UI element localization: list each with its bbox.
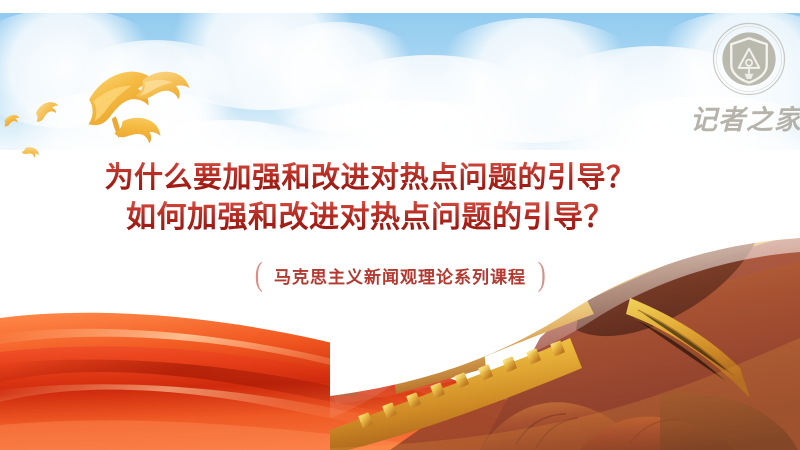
headline-line-2: 如何加强和改进对热点问题的引导？ — [40, 198, 700, 238]
bracket-left-icon: ( — [254, 258, 262, 292]
presentation-slide: 记者之家 — [0, 0, 800, 450]
brand-logo: 记者之家 — [690, 22, 796, 147]
headline-line-1: 为什么要加强和改进对热点问题的引导？ — [40, 158, 700, 198]
logo-wordmark: 记者之家 — [690, 98, 796, 137]
bracket-right-icon: ) — [538, 258, 546, 292]
great-wall-illustration — [330, 218, 800, 450]
journalists-home-seal-icon — [712, 22, 786, 96]
slide-headline: 为什么要加强和改进对热点问题的引导？ 如何加强和改进对热点问题的引导？ — [40, 158, 700, 238]
slide-subtitle: 马克思主义新闻观理论系列课程 — [266, 263, 534, 288]
top-white-band — [0, 0, 800, 13]
slide-subtitle-group: ( 马克思主义新闻观理论系列课程 ) — [0, 258, 800, 292]
